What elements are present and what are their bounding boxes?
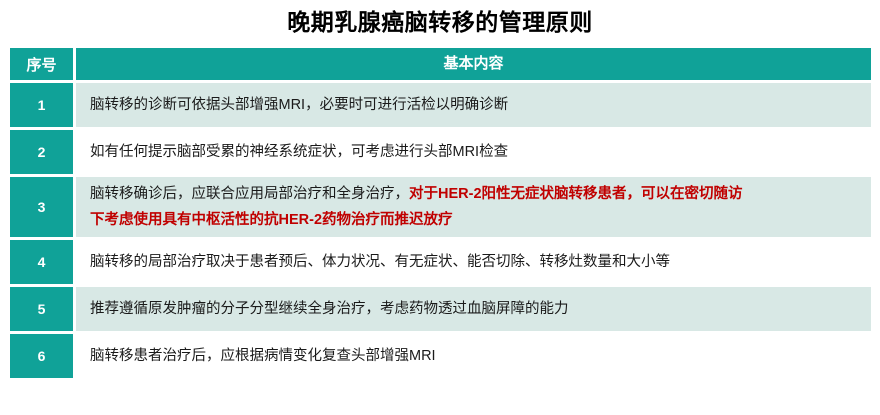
principles-table: 序号 基本内容 1 脑转移的诊断可依据头部增强MRI，必要时可进行活检以明确诊断… xyxy=(10,48,871,381)
row-index-6: 6 xyxy=(10,334,76,381)
row-line: 脑转移确诊后，应联合应用局部治疗和全身治疗，对于HER-2阳性无症状脑转移患者，… xyxy=(90,181,871,207)
table-header-row: 序号 基本内容 xyxy=(10,48,871,83)
row-text-black: 脑转移患者治疗后，应根据病情变化复查头部增强MRI xyxy=(90,348,436,364)
table-row[interactable]: 6 脑转移患者治疗后，应根据病情变化复查头部增强MRI xyxy=(10,334,871,381)
row-content-3: 脑转移确诊后，应联合应用局部治疗和全身治疗，对于HER-2阳性无症状脑转移患者，… xyxy=(76,177,871,240)
row-content-1: 脑转移的诊断可依据头部增强MRI，必要时可进行活检以明确诊断 xyxy=(76,83,871,130)
row-index-4: 4 xyxy=(10,240,76,287)
header-cell-content: 基本内容 xyxy=(76,48,871,83)
table-row[interactable]: 1 脑转移的诊断可依据头部增强MRI，必要时可进行活检以明确诊断 xyxy=(10,83,871,130)
row-content-4: 脑转移的局部治疗取决于患者预后、体力状况、有无症状、能否切除、转移灶数量和大小等 xyxy=(76,240,871,287)
row-text-black: 推荐遵循原发肿瘤的分子分型继续全身治疗，考虑药物透过血脑屏障的能力 xyxy=(90,301,569,317)
row-text-highlight: 下考虑使用具有中枢活性的抗HER-2药物治疗而推迟放疗 xyxy=(90,212,453,228)
row-text-black: 脑转移的诊断可依据头部增强MRI，必要时可进行活检以明确诊断 xyxy=(90,97,508,113)
table-row[interactable]: 5 推荐遵循原发肿瘤的分子分型继续全身治疗，考虑药物透过血脑屏障的能力 xyxy=(10,287,871,334)
row-index-1: 1 xyxy=(10,83,76,130)
table-row[interactable]: 4 脑转移的局部治疗取决于患者预后、体力状况、有无症状、能否切除、转移灶数量和大… xyxy=(10,240,871,287)
row-line: 推荐遵循原发肿瘤的分子分型继续全身治疗，考虑药物透过血脑屏障的能力 xyxy=(90,296,871,322)
row-index-2: 2 xyxy=(10,130,76,177)
row-content-5: 推荐遵循原发肿瘤的分子分型继续全身治疗，考虑药物透过血脑屏障的能力 xyxy=(76,287,871,334)
row-content-2: 如有任何提示脑部受累的神经系统症状，可考虑进行头部MRI检查 xyxy=(76,130,871,177)
row-line: 脑转移的局部治疗取决于患者预后、体力状况、有无症状、能否切除、转移灶数量和大小等 xyxy=(90,249,871,275)
row-text-highlight: 对于HER-2阳性无症状脑转移患者，可以在密切随访 xyxy=(409,186,743,202)
page-title: 晚期乳腺癌脑转移的管理原则 xyxy=(0,6,880,38)
row-content-6: 脑转移患者治疗后，应根据病情变化复查头部增强MRI xyxy=(76,334,871,381)
row-text-black: 脑转移确诊后，应联合应用局部治疗和全身治疗， xyxy=(90,186,409,202)
row-text-black: 脑转移的局部治疗取决于患者预后、体力状况、有无症状、能否切除、转移灶数量和大小等 xyxy=(90,254,670,270)
row-line: 脑转移患者治疗后，应根据病情变化复查头部增强MRI xyxy=(90,343,871,369)
row-text-black: 如有任何提示脑部受累的神经系统症状，可考虑进行头部MRI检查 xyxy=(90,144,508,160)
table-row[interactable]: 2 如有任何提示脑部受累的神经系统症状，可考虑进行头部MRI检查 xyxy=(10,130,871,177)
row-index-5: 5 xyxy=(10,287,76,334)
header-cell-index: 序号 xyxy=(10,48,76,83)
row-line: 脑转移的诊断可依据头部增强MRI，必要时可进行活检以明确诊断 xyxy=(90,92,871,118)
row-index-3: 3 xyxy=(10,177,76,240)
table-row[interactable]: 3 脑转移确诊后，应联合应用局部治疗和全身治疗，对于HER-2阳性无症状脑转移患… xyxy=(10,177,871,240)
row-line: 下考虑使用具有中枢活性的抗HER-2药物治疗而推迟放疗 xyxy=(90,207,871,233)
slide-canvas: 晚期乳腺癌脑转移的管理原则 序号 基本内容 1 脑转移的诊断可依据头部增强MRI… xyxy=(0,0,880,415)
row-line: 如有任何提示脑部受累的神经系统症状，可考虑进行头部MRI检查 xyxy=(90,139,871,165)
